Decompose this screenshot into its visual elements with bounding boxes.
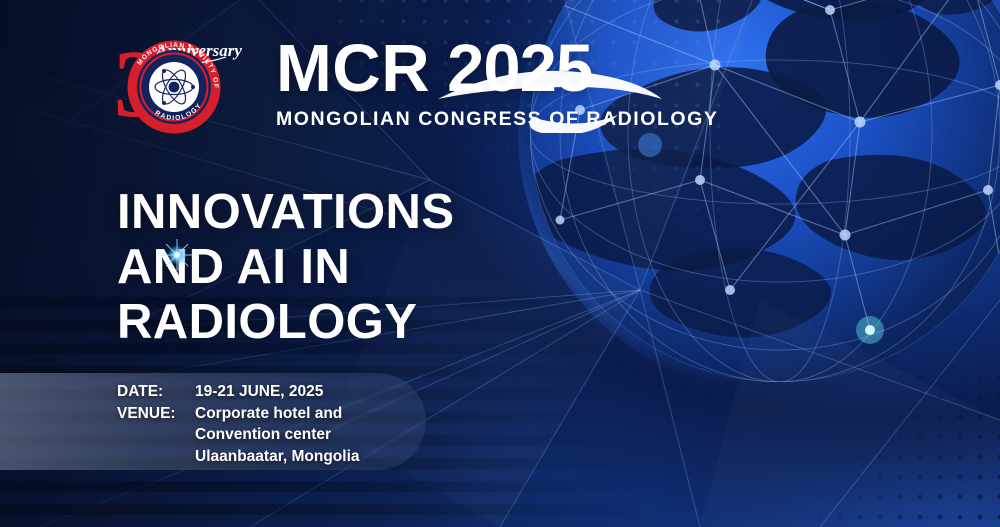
headline-line-1: INNOVATIONS xyxy=(117,185,454,240)
anniversary-logo: 3 Anniversary MONGOLIAN SOCIETY OF RADIO… xyxy=(112,30,252,134)
info-value-date: 19-21 JUNE, 2025 xyxy=(195,381,360,403)
event-info-table: DATE: 19-21 JUNE, 2025 VENUE: Corporate … xyxy=(117,381,360,467)
header-lockup: 3 Anniversary MONGOLIAN SOCIETY OF RADIO… xyxy=(112,30,718,134)
info-value-venue-line-3: Ulaanbaatar, Mongolia xyxy=(195,446,360,468)
info-label-date: DATE: xyxy=(117,381,189,403)
event-wordmark: MCR 2025 MONGOLIAN CONGRESS OF RADIOLOGY xyxy=(276,33,718,131)
info-value-venue-line-1: Corporate hotel and xyxy=(195,403,360,425)
conference-banner: 3 Anniversary MONGOLIAN SOCIETY OF RADIO… xyxy=(0,0,1000,527)
info-label-spacer-1 xyxy=(117,424,189,446)
page-title: INNOVATIONS AND AI IN RADIOLOGY xyxy=(117,185,454,350)
info-label-venue: VENUE: xyxy=(117,403,189,425)
wordmark-year: 2025 xyxy=(447,37,592,101)
headline-line-3: RADIOLOGY xyxy=(117,295,454,350)
wordmark-acronym: MCR xyxy=(276,37,430,101)
wordmark-subtitle: MONGOLIAN CONGRESS OF RADIOLOGY xyxy=(276,108,718,131)
info-value-venue-line-2: Convention center xyxy=(195,424,360,446)
anniversary-logo-svg: 3 Anniversary MONGOLIAN SOCIETY OF RADIO… xyxy=(112,30,252,134)
headline-line-2: AND AI IN xyxy=(117,240,454,295)
info-label-spacer-2 xyxy=(117,446,189,468)
background-halftone-dots-corner xyxy=(770,367,1000,527)
